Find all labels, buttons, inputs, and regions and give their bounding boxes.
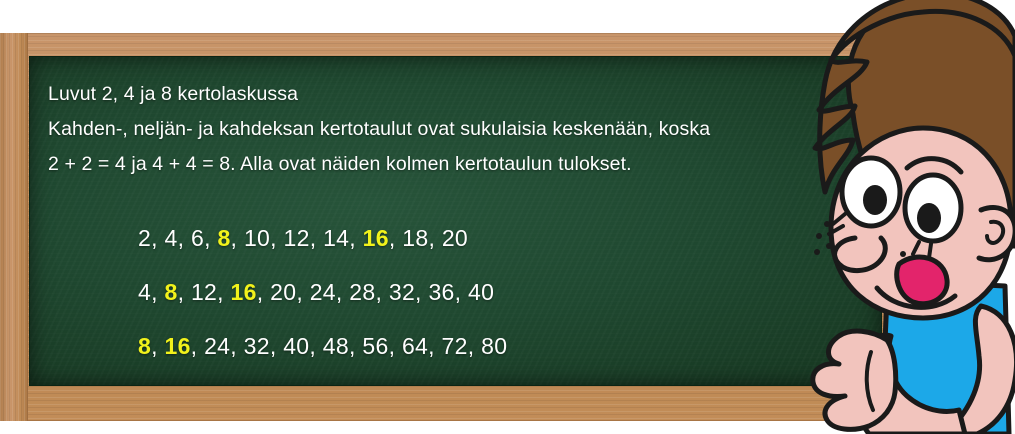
sequence-separator: , [151, 279, 164, 305]
sequence-number: 36 [428, 279, 454, 305]
sequence-separator: , [349, 333, 362, 359]
sequence-number: 4 [164, 225, 177, 251]
sequence-number: 56 [362, 333, 388, 359]
sequence-number: 28 [349, 279, 375, 305]
sequence-separator: , [455, 279, 468, 305]
eye-left-pupil [863, 185, 887, 215]
sequence-separator: , [217, 279, 230, 305]
sequence-number: 12 [191, 279, 217, 305]
sequence-separator: , [309, 333, 322, 359]
sequence-number: 4 [138, 279, 151, 305]
sequence-number: 16 [231, 279, 257, 305]
sequence-number: 64 [402, 333, 428, 359]
chalkboard-text-layer: Luvut 2, 4 ja 8 kertolaskussa Kahden-, n… [30, 57, 881, 385]
sequence-row-two-times-table: 2, 4, 6, 8, 10, 12, 14, 16, 18, 20 [138, 225, 468, 252]
sequence-separator: , [178, 225, 191, 251]
sequence-number: 2 [138, 225, 151, 251]
sequence-number: 24 [310, 279, 336, 305]
sequence-number: 48 [323, 333, 349, 359]
sequence-number: 8 [164, 279, 177, 305]
sequence-row-four-times-table: 4, 8, 12, 16, 20, 24, 28, 32, 36, 40 [138, 279, 494, 306]
sequence-separator: , [349, 225, 362, 251]
sequence-separator: , [296, 279, 309, 305]
sequence-number: 20 [442, 225, 468, 251]
sequence-separator: , [389, 225, 402, 251]
sequence-number: 16 [363, 225, 389, 251]
sequence-number: 24 [204, 333, 230, 359]
sequence-number: 6 [191, 225, 204, 251]
sequence-separator: , [257, 279, 270, 305]
blackboard-frame-left-plank [0, 33, 28, 421]
hand-shape [813, 331, 896, 429]
sequence-number: 8 [217, 225, 230, 251]
cartoon-boy-illustration [795, 0, 1015, 434]
sequence-number: 12 [284, 225, 310, 251]
sequence-row-eight-times-table: 8, 16, 24, 32, 40, 48, 56, 64, 72, 80 [138, 333, 507, 360]
sequence-separator: , [151, 225, 164, 251]
ear-shape [979, 207, 1015, 259]
board-body-line-1: Kahden-, neljän- ja kahdeksan kertotaulu… [48, 119, 710, 140]
sequence-separator: , [231, 225, 244, 251]
board-body-line-2: 2 + 2 = 4 ja 4 + 4 = 8. Alla ovat näiden… [48, 154, 632, 175]
sequence-number: 32 [244, 333, 270, 359]
sequence-number: 16 [164, 333, 190, 359]
sequence-separator: , [230, 333, 243, 359]
sequence-number: 10 [244, 225, 270, 251]
sequence-number: 72 [442, 333, 468, 359]
sequence-separator: , [270, 333, 283, 359]
sequence-separator: , [191, 333, 204, 359]
board-heading: Luvut 2, 4 ja 8 kertolaskussa [48, 84, 298, 105]
sequence-separator: , [428, 333, 441, 359]
sequence-number: 18 [402, 225, 428, 251]
eye-right-pupil [917, 203, 941, 233]
sequence-number: 32 [389, 279, 415, 305]
sequence-separator: , [415, 279, 428, 305]
sequence-separator: , [310, 225, 323, 251]
sequence-separator: , [428, 225, 441, 251]
sequence-number: 8 [138, 333, 151, 359]
sequence-separator: , [178, 279, 191, 305]
sequence-number: 80 [481, 333, 507, 359]
sequence-separator: , [468, 333, 481, 359]
sequence-number: 14 [323, 225, 349, 251]
sequence-separator: , [389, 333, 402, 359]
sequence-separator: , [375, 279, 388, 305]
sequence-number: 40 [468, 279, 494, 305]
sequence-separator: , [336, 279, 349, 305]
sequence-separator: , [270, 225, 283, 251]
tongue-shape [897, 257, 947, 304]
sequence-separator: , [204, 225, 217, 251]
sequence-number: 40 [283, 333, 309, 359]
sequence-separator: , [151, 333, 164, 359]
sequence-number: 20 [270, 279, 296, 305]
